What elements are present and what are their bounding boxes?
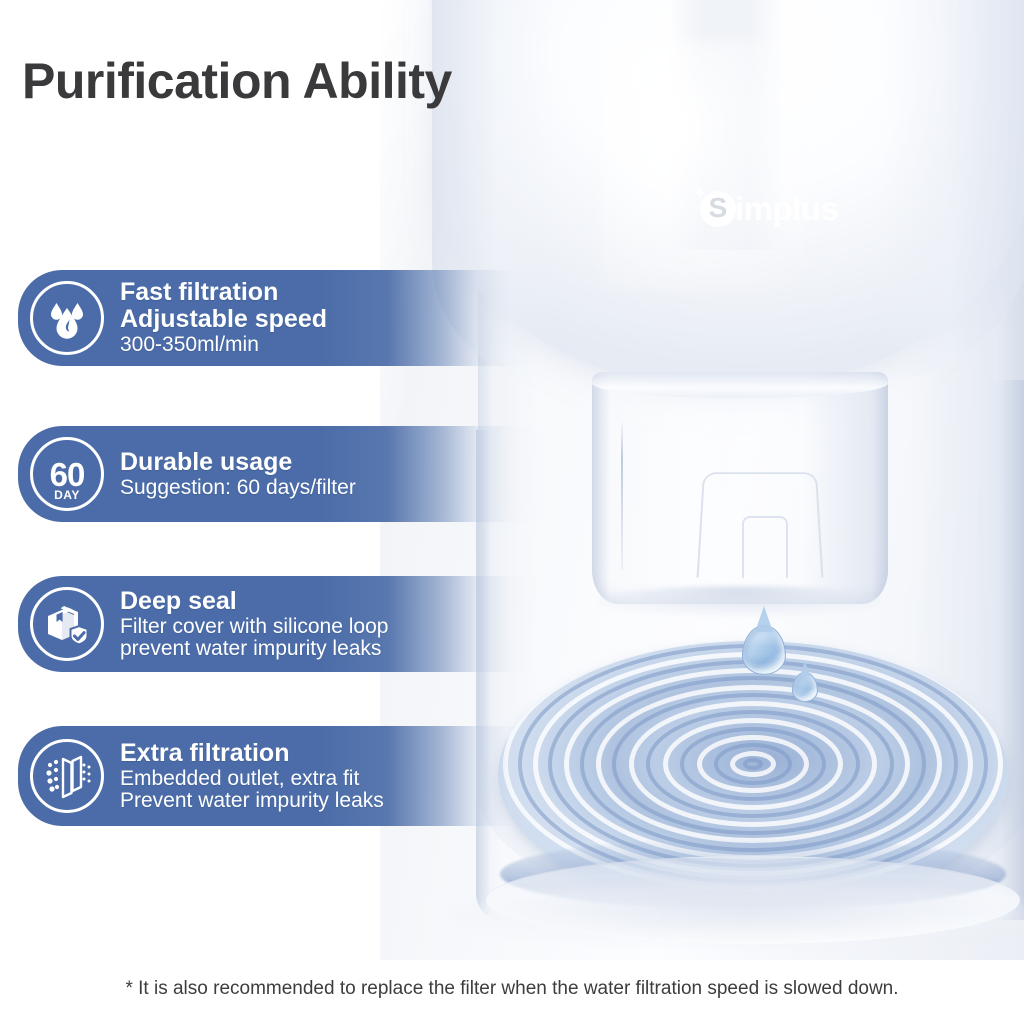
logo-plus-icon: + bbox=[694, 184, 705, 203]
feature-text-block: Deep seal Filter cover with silicone loo… bbox=[120, 588, 388, 661]
feature-text-block: Durable usage Suggestion: 60 days/filter bbox=[120, 449, 356, 500]
pitcher-base-shadow bbox=[452, 884, 1024, 946]
feature-title: Fast filtration Adjustable speed bbox=[120, 279, 327, 332]
feature-subtitle: Embedded outlet, extra fit Prevent water… bbox=[120, 768, 384, 813]
feature-subtitle: 300-350ml/min bbox=[120, 334, 327, 356]
feature-badge-durable-usage[interactable]: 60 DAY Durable usage Suggestion: 60 days… bbox=[18, 426, 898, 522]
feature-subtitle: Filter cover with silicone loop prevent … bbox=[120, 616, 388, 661]
page-title: Purification Ability bbox=[22, 52, 452, 110]
feature-title: Extra filtration bbox=[120, 740, 384, 767]
logo-circle-mark: S + bbox=[700, 191, 736, 227]
feature-subtitle: Suggestion: 60 days/filter bbox=[120, 477, 356, 499]
feature-text-block: Fast filtration Adjustable speed 300-350… bbox=[120, 279, 327, 356]
feature-badge-fast-filtration[interactable]: Fast filtration Adjustable speed 300-350… bbox=[18, 270, 898, 366]
feature-badge-deep-seal[interactable]: Deep seal Filter cover with silicone loo… bbox=[18, 576, 898, 672]
funnel-highlight bbox=[600, 40, 810, 290]
filter-membrane-icon bbox=[30, 739, 104, 813]
feature-badge-extra-filtration[interactable]: Extra filtration Embedded outlet, extra … bbox=[18, 726, 898, 826]
simplus-logo: S + implus bbox=[700, 190, 838, 228]
water-drops-icon bbox=[30, 281, 104, 355]
sixty-number: 60 bbox=[50, 458, 85, 491]
footnote-text: * It is also recommended to replace the … bbox=[0, 978, 1024, 1000]
day-unit-label: DAY bbox=[33, 488, 101, 502]
infographic-canvas: S + implus bbox=[0, 0, 1024, 1024]
logo-wordmark: implus bbox=[735, 190, 838, 228]
cartridge-emboss-inner bbox=[742, 516, 788, 578]
sixty-day-badge-icon: 60 DAY bbox=[30, 437, 104, 511]
pitcher-right-wall bbox=[986, 380, 1024, 920]
feature-text-block: Extra filtration Embedded outlet, extra … bbox=[120, 740, 384, 813]
feature-title: Deep seal bbox=[120, 588, 388, 615]
feature-title: Durable usage bbox=[120, 449, 356, 476]
sealed-box-check-icon bbox=[30, 587, 104, 661]
water-droplet-small-icon bbox=[792, 672, 818, 702]
logo-letter-s: S bbox=[709, 194, 728, 222]
